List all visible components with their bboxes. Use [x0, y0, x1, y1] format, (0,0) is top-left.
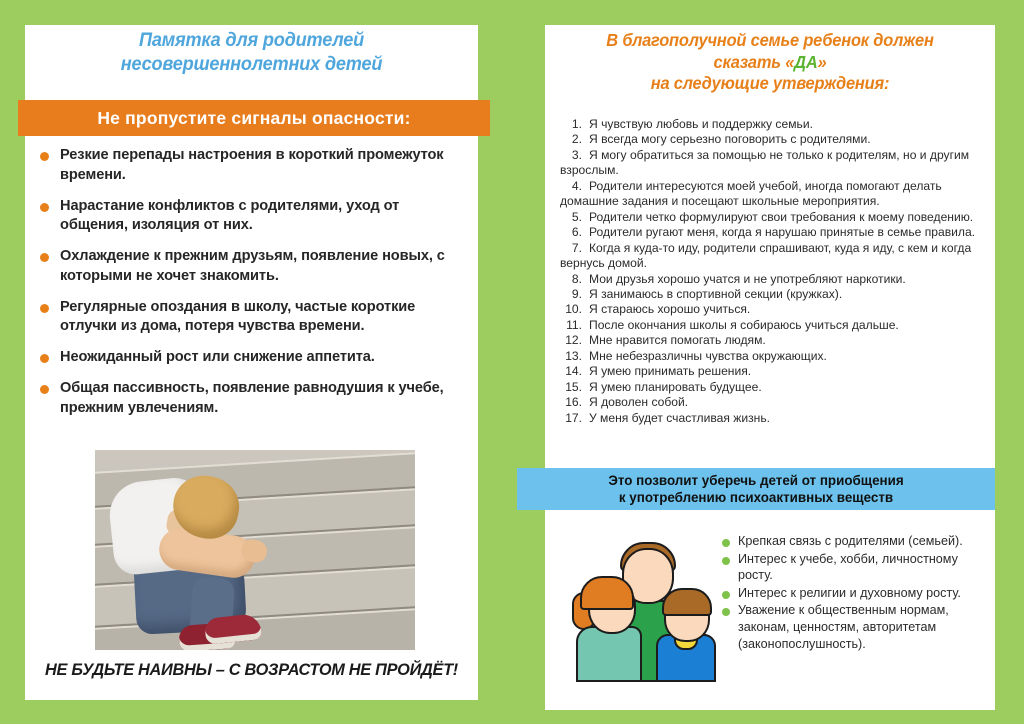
child-hair	[662, 588, 712, 616]
bullet-dot-icon	[40, 304, 49, 313]
left-panel-caption: НЕ БУДЬТЕ НАИВНЫ – С ВОЗРАСТОМ НЕ ПРОЙДЁ…	[34, 660, 469, 680]
bullet-dot-icon	[722, 539, 730, 547]
list-item: Уважение к общественным нормам, законам,…	[722, 602, 984, 652]
bullet-dot-icon	[40, 354, 49, 363]
right-title-highlight: ДА	[794, 52, 817, 72]
prevention-banner-text: Это позволит уберечь детей от приобщения…	[608, 472, 903, 507]
statement-label: Я доволен собой.	[589, 395, 688, 409]
list-item: Крепкая связь с родителями (семьей).	[722, 533, 984, 550]
list-item-label: Нарастание конфликтов с родителями, уход…	[60, 197, 460, 236]
right-title-line-2-after: »	[818, 52, 827, 72]
statement-number: 8.	[560, 272, 582, 287]
teen-figure	[101, 458, 281, 648]
mother-body	[576, 626, 642, 682]
right-title-line-2: сказать «ДА»	[556, 52, 984, 74]
statement-item: 13.Мне небезразличны чувства окружающих.	[560, 349, 985, 364]
left-title-line-2: несовершеннолетних детей	[41, 52, 462, 76]
statement-number: 6.	[560, 225, 582, 240]
statement-number: 10.	[560, 302, 582, 317]
bullet-dot-icon	[722, 557, 730, 565]
statement-label: Я занимаюсь в спортивной секции (кружках…	[589, 287, 842, 301]
statement-number: 7.	[560, 241, 582, 256]
list-item-label: Уважение к общественным нормам, законам,…	[738, 602, 984, 652]
bullet-dot-icon	[40, 203, 49, 212]
statement-item: 7.Когда я куда-то иду, родители спрашива…	[560, 241, 985, 272]
list-item: Интерес к религии и духовному росту.	[722, 585, 984, 602]
statement-item: 6.Родители ругают меня, когда я нарушаю …	[560, 225, 985, 240]
prevention-banner: Это позволит уберечь детей от приобщения…	[517, 468, 995, 510]
statement-number: 2.	[560, 132, 582, 147]
statement-label: Я стараюсь хорошо учиться.	[589, 302, 750, 316]
statement-number: 11.	[560, 318, 582, 333]
statement-label: Мои друзья хорошо учатся и не употребляю…	[589, 272, 906, 286]
list-item: Интерес к учебе, хобби, личностному рост…	[722, 551, 984, 584]
list-item-label: Неожиданный рост или снижение аппетита.	[60, 348, 375, 368]
list-item-label: Интерес к религии и духовному росту.	[738, 585, 961, 602]
bullet-dot-icon	[722, 608, 730, 616]
list-item: Нарастание конфликтов с родителями, уход…	[40, 197, 460, 236]
statement-item: 16.Я доволен собой.	[560, 395, 985, 410]
statement-item: 10.Я стараюсь хорошо учиться.	[560, 302, 985, 317]
statement-number: 1.	[560, 117, 582, 132]
statement-number: 14.	[560, 364, 582, 379]
statement-number: 13.	[560, 349, 582, 364]
statement-label: Когда я куда-то иду, родители спрашивают…	[560, 241, 971, 270]
list-item-label: Регулярные опоздания в школу, частые кор…	[60, 298, 460, 337]
statement-label: Я могу обратиться за помощью не только к…	[560, 148, 969, 177]
right-panel-title: В благополучной семье ребенок должен ска…	[556, 30, 984, 95]
prevention-banner-line-1: Это позволит уберечь детей от приобщения	[608, 472, 903, 490]
left-panel-title: Памятка для родителей несовершеннолетних…	[41, 28, 462, 76]
statement-label: Я чувствую любовь и поддержку семьи.	[589, 117, 813, 131]
list-item: Резкие перепады настроения в короткий пр…	[40, 146, 460, 185]
red-sneaker	[204, 613, 262, 645]
statement-label: Родители ругают меня, когда я нарушаю пр…	[589, 225, 975, 239]
statement-item: 3.Я могу обратиться за помощью не только…	[560, 148, 985, 179]
list-item-label: Интерес к учебе, хобби, личностному рост…	[738, 551, 984, 584]
brochure-page: Памятка для родителей несовершеннолетних…	[0, 0, 1024, 724]
family-illustration	[570, 528, 720, 678]
statement-number: 5.	[560, 210, 582, 225]
statement-item: 14.Я умею принимать решения.	[560, 364, 985, 379]
statement-number: 4.	[560, 179, 582, 194]
bullet-dot-icon	[40, 152, 49, 161]
statement-item: 4.Родители интересуются моей учебой, ино…	[560, 179, 985, 210]
prevention-banner-line-2: к употреблению психоактивных веществ	[608, 489, 903, 507]
statement-label: Я всегда могу серьезно поговорить с роди…	[589, 132, 871, 146]
danger-signals-banner: Не пропустите сигналы опасности:	[18, 100, 490, 136]
mother-hair	[580, 576, 634, 610]
list-item: Общая пассивность, появление равнодушия …	[40, 379, 460, 418]
bullet-dot-icon	[40, 253, 49, 262]
statement-item: 11.После окончания школы я собираюсь учи…	[560, 318, 985, 333]
list-item-label: Крепкая связь с родителями (семьей).	[738, 533, 963, 550]
list-item-label: Охлаждение к прежним друзьям, появление …	[60, 247, 460, 286]
statement-number: 16.	[560, 395, 582, 410]
teen-on-steps-photo	[95, 450, 415, 650]
statement-item: 5.Родители четко формулируют свои требов…	[560, 210, 985, 225]
statement-number: 9.	[560, 287, 582, 302]
statement-number: 3.	[560, 148, 582, 163]
bullet-dot-icon	[722, 591, 730, 599]
danger-signals-list: Резкие перепады настроения в короткий пр…	[40, 146, 460, 430]
statement-item: 17.У меня будет счастливая жизнь.	[560, 411, 985, 426]
statement-item: 15.Я умею планировать будущее.	[560, 380, 985, 395]
danger-signals-banner-label: Не пропустите сигналы опасности:	[97, 108, 410, 129]
statement-item: 2.Я всегда могу серьезно поговорить с ро…	[560, 132, 985, 147]
statement-item: 9.Я занимаюсь в спортивной секции (кружк…	[560, 287, 985, 302]
right-title-line-1: В благополучной семье ребенок должен	[556, 30, 984, 52]
statement-item: 8.Мои друзья хорошо учатся и не употребл…	[560, 272, 985, 287]
list-item: Неожиданный рост или снижение аппетита.	[40, 348, 460, 368]
list-item-label: Общая пассивность, появление равнодушия …	[60, 379, 460, 418]
statement-number: 12.	[560, 333, 582, 348]
statement-label: Мне небезразличны чувства окружающих.	[589, 349, 827, 363]
statement-label: У меня будет счастливая жизнь.	[589, 411, 770, 425]
statements-list: 1.Я чувствую любовь и поддержку семьи.2.…	[560, 117, 985, 426]
statement-label: Родители четко формулируют свои требован…	[589, 210, 973, 224]
statement-label: Я умею планировать будущее.	[589, 380, 762, 394]
bullet-dot-icon	[40, 385, 49, 394]
statement-label: Мне нравится помогать людям.	[589, 333, 766, 347]
statement-label: Родители интересуются моей учебой, иногд…	[560, 179, 942, 208]
list-item: Охлаждение к прежним друзьям, появление …	[40, 247, 460, 286]
statement-number: 17.	[560, 411, 582, 426]
statement-label: Я умею принимать решения.	[589, 364, 751, 378]
right-title-line-3: на следующие утверждения:	[556, 73, 984, 95]
statement-number: 15.	[560, 380, 582, 395]
statement-label: После окончания школы я собираюсь учитьс…	[589, 318, 899, 332]
list-item-label: Резкие перепады настроения в короткий пр…	[60, 146, 460, 185]
protective-factors-list: Крепкая связь с родителями (семьей). Инт…	[722, 533, 984, 653]
statement-item: 12.Мне нравится помогать людям.	[560, 333, 985, 348]
statement-item: 1.Я чувствую любовь и поддержку семьи.	[560, 117, 985, 132]
left-title-line-1: Памятка для родителей	[41, 28, 462, 52]
list-item: Регулярные опоздания в школу, частые кор…	[40, 298, 460, 337]
right-title-line-2-before: сказать «	[714, 52, 795, 72]
